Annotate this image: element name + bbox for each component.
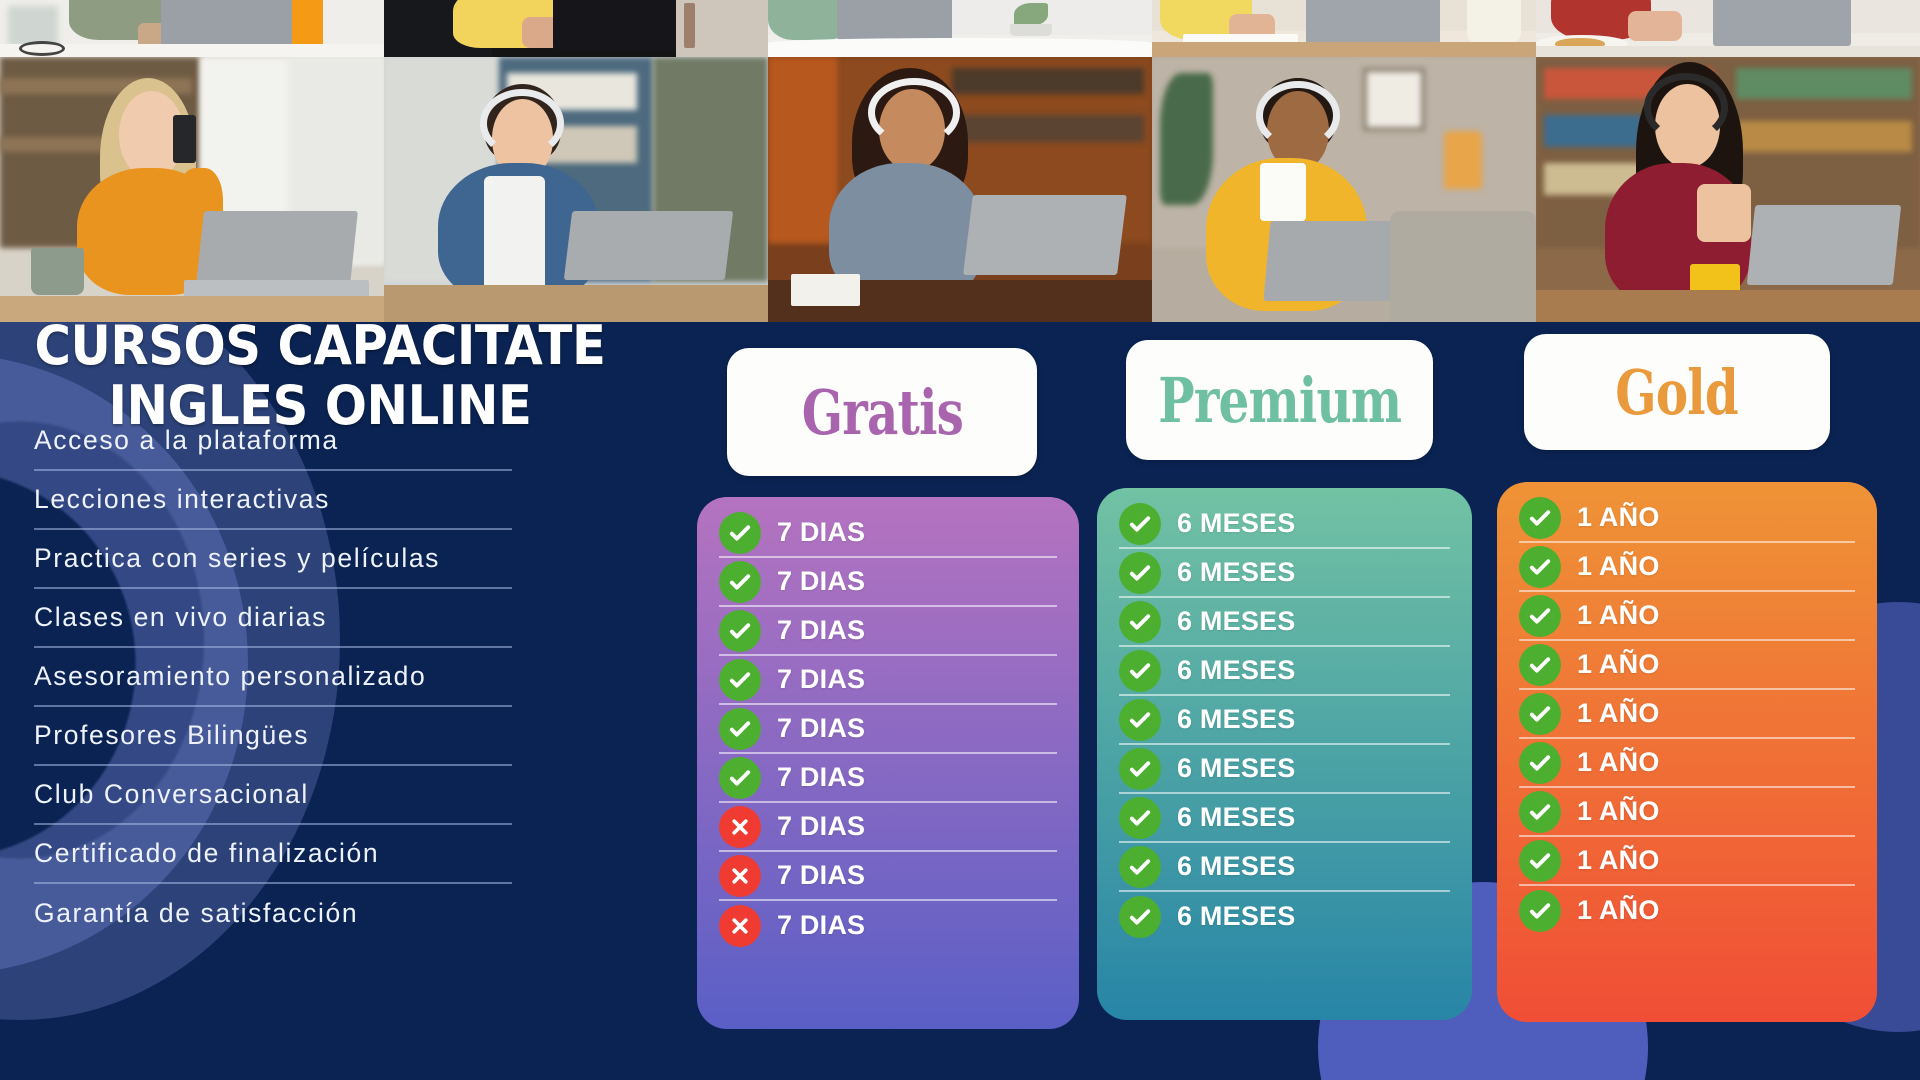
x-circle-icon (719, 855, 761, 897)
plan-value: 6 MESES (1177, 508, 1295, 539)
plan-value: 7 DIAS (777, 615, 865, 646)
photo-young-man-with-headset-writing-at-office-desk (384, 57, 768, 322)
plan-row: 7 DIAS (719, 509, 1057, 558)
plan-row: 1 AÑO (1519, 494, 1855, 543)
check-circle-icon (1119, 748, 1161, 790)
plan-row: 1 AÑO (1519, 739, 1855, 788)
photo-person-in-red-typing-with-croissant (1536, 0, 1920, 57)
plan-value: 1 AÑO (1577, 845, 1660, 876)
plan-value: 7 DIAS (777, 762, 865, 793)
infographic-root: CURSOS CAPACITATE INGLES ONLINE Acceso a… (0, 0, 1920, 1080)
check-circle-icon (1519, 693, 1561, 735)
check-circle-icon (1119, 503, 1161, 545)
check-circle-icon (1519, 595, 1561, 637)
feature-row: Certificado de finalización (34, 825, 512, 884)
feature-label: Asesoramiento personalizado (34, 661, 426, 692)
plan-header-gratis[interactable]: Gratis (727, 348, 1037, 476)
check-circle-icon (1519, 840, 1561, 882)
check-circle-icon (1119, 797, 1161, 839)
plan-value: 1 AÑO (1577, 502, 1660, 533)
plan-row: 1 AÑO (1519, 641, 1855, 690)
feature-label: Lecciones interactivas (34, 484, 330, 515)
plan-value: 6 MESES (1177, 606, 1295, 637)
plan-name-gratis: Gratis (801, 376, 962, 449)
plan-value: 6 MESES (1177, 704, 1295, 735)
plan-row: 6 MESES (1119, 745, 1450, 794)
plan-value: 6 MESES (1177, 753, 1295, 784)
plan-value: 7 DIAS (777, 860, 865, 891)
plan-header-premium[interactable]: Premium (1126, 340, 1433, 460)
check-circle-icon (1119, 650, 1161, 692)
check-circle-icon (1519, 791, 1561, 833)
plan-row: 7 DIAS (719, 803, 1057, 852)
feature-label: Clases en vivo diarias (34, 602, 327, 633)
photo-person-typing-laptop-with-orange-juice (0, 0, 384, 57)
plan-row: 7 DIAS (719, 607, 1057, 656)
check-circle-icon (1119, 846, 1161, 888)
feature-row: Club Conversacional (34, 766, 512, 825)
page-title-line-1: CURSOS CAPACITATE (33, 322, 607, 376)
plan-value: 1 AÑO (1577, 649, 1660, 680)
plan-row: 1 AÑO (1519, 788, 1855, 837)
left-column: CURSOS CAPACITATE INGLES ONLINE Acceso a… (0, 322, 640, 1080)
plan-row: 6 MESES (1119, 843, 1450, 892)
plan-value: 6 MESES (1177, 851, 1295, 882)
plan-value: 6 MESES (1177, 901, 1295, 932)
feature-row: Lecciones interactivas (34, 471, 512, 530)
check-circle-icon (1519, 546, 1561, 588)
feature-list: Acceso a la plataformaLecciones interact… (34, 412, 614, 943)
plan-value: 7 DIAS (777, 566, 865, 597)
feature-label: Garantía de satisfacción (34, 898, 358, 929)
check-circle-icon (719, 659, 761, 701)
plan-value: 7 DIAS (777, 664, 865, 695)
plan-row: 6 MESES (1119, 696, 1450, 745)
photo-person-at-white-desk-with-laptop-and-plant (768, 0, 1152, 57)
plan-value: 1 AÑO (1577, 551, 1660, 582)
feature-row: Asesoramiento personalizado (34, 648, 512, 707)
photo-curly-haired-woman-with-headphones-studying (768, 57, 1152, 322)
check-circle-icon (719, 512, 761, 554)
plan-row: 6 MESES (1119, 647, 1450, 696)
plan-value: 1 AÑO (1577, 747, 1660, 778)
check-circle-icon (1119, 699, 1161, 741)
check-circle-icon (719, 610, 761, 652)
plan-body-gold: 1 AÑO1 AÑO1 AÑO1 AÑO1 AÑO1 AÑO1 AÑO1 AÑO… (1497, 482, 1877, 1022)
check-circle-icon (719, 708, 761, 750)
photo-person-writing-notes-beside-laptop-and-mug (1152, 0, 1536, 57)
plan-row: 1 AÑO (1519, 886, 1855, 935)
plan-value: 1 AÑO (1577, 895, 1660, 926)
feature-label: Certificado de finalización (34, 838, 379, 869)
check-circle-icon (1519, 742, 1561, 784)
check-circle-icon (719, 757, 761, 799)
feature-row: Acceso a la plataforma (34, 412, 512, 471)
plan-value: 6 MESES (1177, 655, 1295, 686)
feature-label: Acceso a la plataforma (34, 425, 339, 456)
plan-row: 7 DIAS (719, 754, 1057, 803)
plan-value: 1 AÑO (1577, 698, 1660, 729)
plan-body-premium: 6 MESES6 MESES6 MESES6 MESES6 MESES6 MES… (1097, 488, 1472, 1020)
feature-row: Garantía de satisfacción (34, 884, 512, 943)
check-circle-icon (1519, 644, 1561, 686)
photo-strip (0, 0, 1920, 322)
plan-value: 7 DIAS (777, 517, 865, 548)
plan-row: 7 DIAS (719, 852, 1057, 901)
photo-person-in-yellow-typing-on-black-laptop (384, 0, 768, 57)
plan-value: 7 DIAS (777, 713, 865, 744)
plan-row: 1 AÑO (1519, 837, 1855, 886)
plan-column-gratis: Gratis7 DIAS7 DIAS7 DIAS7 DIAS7 DIAS7 DI… (697, 322, 1119, 1080)
plan-row: 7 DIAS (719, 558, 1057, 607)
plan-row: 1 AÑO (1519, 690, 1855, 739)
plan-row: 7 DIAS (719, 901, 1057, 950)
plan-column-premium: Premium6 MESES6 MESES6 MESES6 MESES6 MES… (1097, 322, 1512, 1080)
feature-label: Profesores Bilingües (34, 720, 309, 751)
plan-row: 1 AÑO (1519, 543, 1855, 592)
plan-value: 7 DIAS (777, 811, 865, 842)
main-panel: CURSOS CAPACITATE INGLES ONLINE Acceso a… (0, 322, 1920, 1080)
plan-row: 1 AÑO (1519, 592, 1855, 641)
plan-body-gratis: 7 DIAS7 DIAS7 DIAS7 DIAS7 DIAS7 DIAS7 DI… (697, 497, 1079, 1029)
plan-name-gold: Gold (1616, 356, 1739, 429)
plan-value: 1 AÑO (1577, 796, 1660, 827)
plan-value: 6 MESES (1177, 557, 1295, 588)
plan-value: 6 MESES (1177, 802, 1295, 833)
plan-column-gold: Gold1 AÑO1 AÑO1 AÑO1 AÑO1 AÑO1 AÑO1 AÑO1… (1497, 322, 1917, 1080)
feature-row: Clases en vivo diarias (34, 589, 512, 648)
x-circle-icon (719, 806, 761, 848)
feature-label: Practica con series y películas (34, 543, 440, 574)
plan-header-gold[interactable]: Gold (1524, 334, 1830, 450)
plan-row: 6 MESES (1119, 598, 1450, 647)
plan-row: 7 DIAS (719, 656, 1057, 705)
photo-woman-in-red-dress-with-headset-video-call (1536, 57, 1920, 322)
check-circle-icon (1119, 552, 1161, 594)
plan-value: 7 DIAS (777, 910, 865, 941)
plan-name-premium: Premium (1158, 364, 1401, 437)
feature-row: Profesores Bilingües (34, 707, 512, 766)
plan-row: 6 MESES (1119, 500, 1450, 549)
check-circle-icon (1519, 890, 1561, 932)
check-circle-icon (1519, 497, 1561, 539)
check-circle-icon (1119, 601, 1161, 643)
x-circle-icon (719, 905, 761, 947)
plan-row: 7 DIAS (719, 705, 1057, 754)
check-circle-icon (1119, 896, 1161, 938)
feature-row: Practica con series y películas (34, 530, 512, 589)
plan-row: 6 MESES (1119, 549, 1450, 598)
photo-man-in-yellow-shirt-with-headphones-on-sofa (1152, 57, 1536, 322)
plan-value: 1 AÑO (1577, 600, 1660, 631)
check-circle-icon (719, 561, 761, 603)
feature-label: Club Conversacional (34, 779, 309, 810)
plan-row: 6 MESES (1119, 794, 1450, 843)
photo-blonde-woman-on-phone-using-laptop-in-kitchen (0, 57, 384, 322)
plan-row: 6 MESES (1119, 892, 1450, 941)
